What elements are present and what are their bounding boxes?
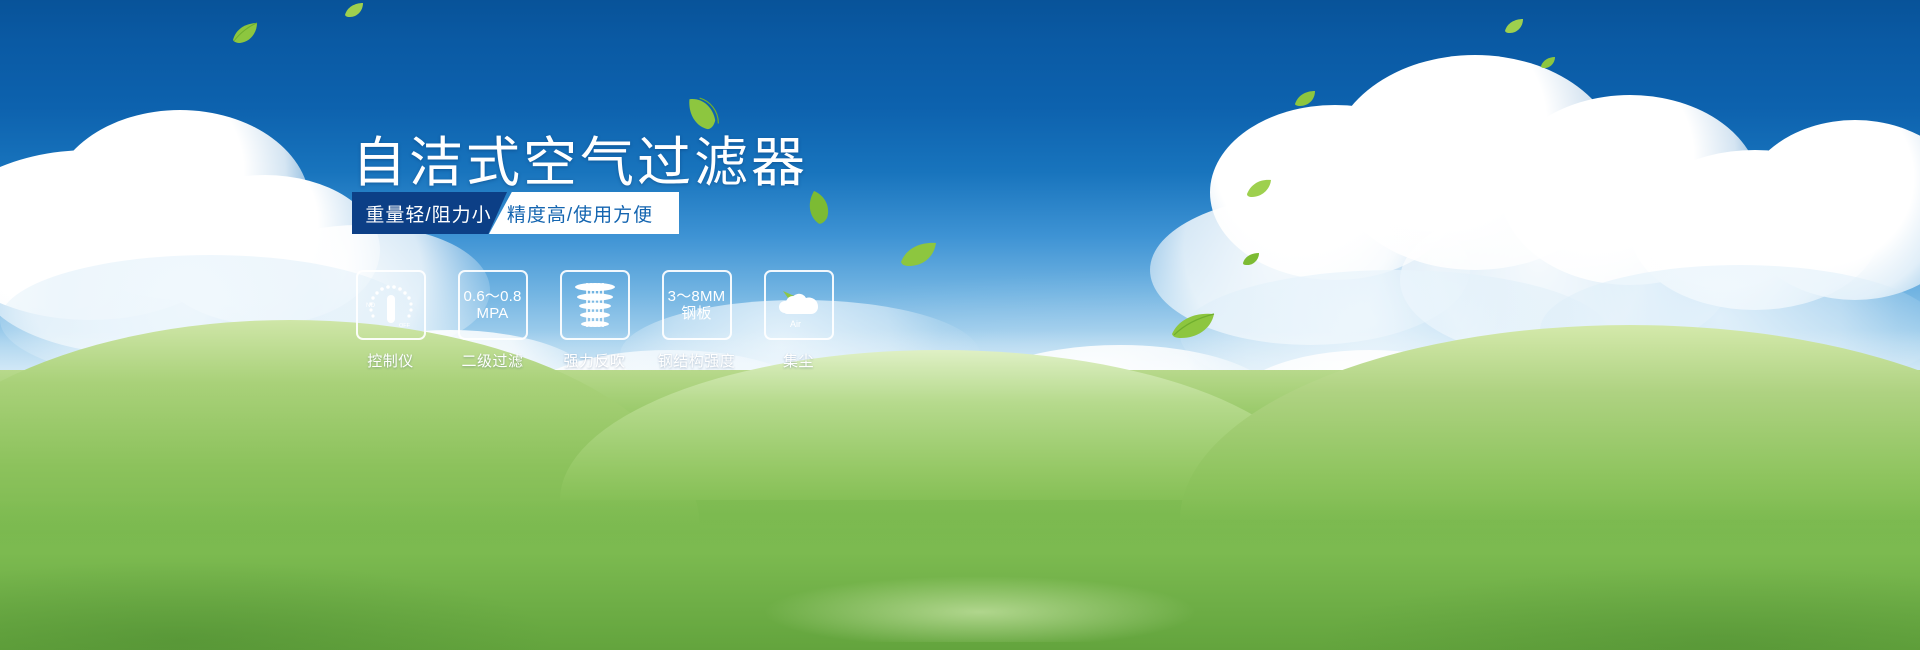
page-title: 自洁式空气过滤器: [352, 118, 808, 197]
tagline-tabs: 重量轻/阻力小 精度高/使用方便: [352, 192, 679, 234]
feature-label-blowback: 强力反吹: [563, 350, 625, 371]
air-caption: Air: [790, 319, 801, 329]
feature-box-blowback: [560, 270, 630, 340]
steel-line-1: 3～8MM: [668, 288, 726, 305]
feature-item-filtration: 0.6～0.8 MPA 二级过滤: [454, 270, 531, 371]
feature-item-dust: Air 集尘: [760, 270, 837, 371]
tagline-tab-1: 重量轻/阻力小: [352, 192, 507, 234]
tagline-tab-1-label: 重量轻/阻力小: [365, 200, 491, 227]
tagline-tab-2-label: 精度高/使用方便: [507, 200, 653, 227]
feature-list: NO OFF 控制仪 0.6～0.8 MPA 二级过滤: [352, 270, 837, 371]
gauge-mark-no: NO: [366, 303, 375, 309]
feature-box-controller: NO OFF: [356, 270, 426, 340]
tagline-tab-2: 精度高/使用方便: [489, 192, 679, 234]
feature-box-steel: 3～8MM 钢板: [662, 270, 732, 340]
feature-label-filtration: 二级过滤: [461, 350, 523, 371]
product-banner: 自洁式空气过滤器 重量轻/阻力小 精度高/使用方便: [0, 0, 1920, 650]
gauge-icon: NO OFF: [363, 280, 419, 330]
feature-item-blowback: 强力反吹: [556, 270, 633, 371]
coil-blowback-icon: [570, 279, 620, 331]
air-cloud-icon: Air: [771, 279, 827, 331]
pressure-line-1: 0.6～0.8: [463, 288, 521, 305]
feature-item-controller: NO OFF 控制仪: [352, 270, 429, 371]
feature-box-filtration: 0.6～0.8 MPA: [458, 270, 528, 340]
feature-box-dust: Air: [764, 270, 834, 340]
banner-content: 自洁式空气过滤器 重量轻/阻力小 精度高/使用方便: [0, 0, 1920, 650]
steel-line-2: 钢板: [681, 305, 711, 322]
feature-item-steel: 3～8MM 钢板 钢结构强度: [658, 270, 735, 371]
gauge-mark-off: OFF: [399, 323, 411, 329]
pressure-line-2: MPA: [477, 305, 509, 322]
feature-label-controller: 控制仪: [367, 350, 414, 371]
feature-label-steel: 钢结构强度: [658, 350, 736, 371]
feature-label-dust: 集尘: [783, 350, 814, 371]
